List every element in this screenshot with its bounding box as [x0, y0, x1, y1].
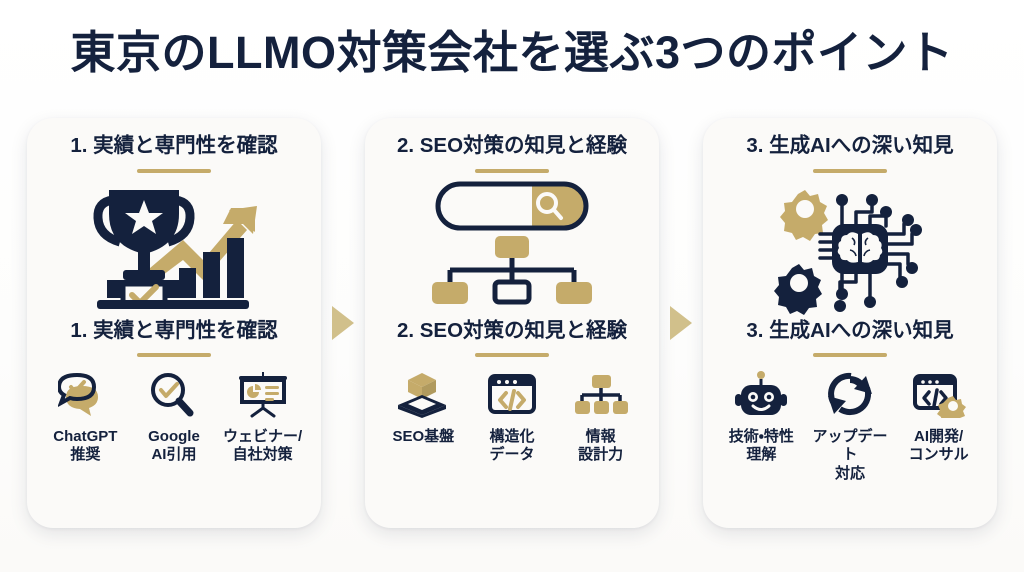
card-2-feature-2[interactable]: 構造化 データ: [468, 369, 556, 465]
card-3-heading-top: 3. 生成AIへの深い知見: [746, 134, 953, 159]
card-2-feature-2-label: 構造化 データ: [489, 428, 534, 465]
arrow-gap-1: [321, 118, 365, 528]
page-title: 東京のLLMO対策会社を選ぶ3つのポイント: [0, 28, 1024, 78]
card-3-feature-2-label: アップデート 対応: [806, 428, 894, 483]
card-1-feature-3-label: ウェビナー/ 自社対策: [223, 428, 302, 465]
page-title-wrapper: 東京のLLMO対策会社を選ぶ3つのポイント: [0, 28, 1024, 78]
arrow-between-card1-card2: [332, 306, 354, 340]
code-window-icon: [486, 369, 538, 421]
card-3-features: 技術・特性 理解 アップデート 対応: [717, 369, 983, 483]
chat-bubble-check-icon: [58, 369, 112, 421]
infographic-page: 東京のLLMO対策会社を選ぶ3つのポイント 1. 実績と専門性を確認: [0, 0, 1024, 572]
card-3-divider-top: [813, 169, 887, 173]
card-2-hero-icon-area: [379, 179, 645, 319]
card-3-feature-2[interactable]: アップデート 対応: [806, 369, 894, 483]
card-3[interactable]: 3. 生成AIへの深い知見: [703, 118, 997, 528]
cube-layers-icon: [396, 369, 450, 421]
card-3-feature-3[interactable]: AI開発/ コンサル: [895, 369, 983, 465]
card-1-divider-top: [137, 169, 211, 173]
code-window-gear-icon: [912, 369, 966, 421]
card-2-features: SEO基盤 構造化 データ: [379, 369, 645, 465]
card-2-heading-bottom: 2. SEO対策の知見と経験: [397, 319, 627, 344]
card-1-hero-icon-area: [41, 179, 307, 319]
card-2-heading-top: 2. SEO対策の知見と経験: [397, 134, 627, 159]
card-1-feature-3[interactable]: ウェビナー/ 自社対策: [219, 369, 307, 465]
card-1-feature-1-label: ChatGPT 推奨: [53, 428, 117, 465]
cards-row: 1. 実績と専門性を確認: [0, 118, 1024, 538]
card-2-feature-3-label: 情報 設計力: [578, 428, 623, 465]
arrow-gap-2: [659, 118, 703, 528]
card-2-divider-top: [475, 169, 549, 173]
card-1-features: ChatGPT 推奨 Google AI引用: [41, 369, 307, 465]
ai-brain-chip-gears-icon: [762, 176, 938, 321]
card-1-divider-bottom: [137, 353, 211, 357]
card-2-feature-3[interactable]: 情報 設計力: [557, 369, 645, 465]
card-3-feature-1-label: 技術・特性 理解: [729, 428, 794, 465]
card-3-feature-3-label: AI開発/ コンサル: [909, 428, 969, 465]
card-1-feature-2[interactable]: Google AI引用: [130, 369, 218, 465]
presentation-board-icon: [236, 369, 290, 421]
hierarchy-nodes-icon: [574, 369, 628, 421]
card-2-feature-1[interactable]: SEO基盤: [379, 369, 467, 446]
card-3-feature-1[interactable]: 技術・特性 理解: [717, 369, 805, 465]
search-bar-sitemap-icon: [422, 178, 602, 319]
card-1[interactable]: 1. 実績と専門性を確認: [27, 118, 321, 528]
card-1-feature-2-label: Google AI引用: [148, 428, 200, 465]
card-3-heading-bottom: 3. 生成AIへの深い知見: [746, 319, 953, 344]
card-1-heading-bottom: 1. 実績と専門性を確認: [70, 319, 277, 344]
magnifier-check-icon: [148, 369, 200, 421]
card-3-hero-icon-area: [717, 179, 983, 319]
card-3-divider-bottom: [813, 353, 887, 357]
trophy-growth-chart-icon: [79, 180, 269, 317]
card-2[interactable]: 2. SEO対策の知見と経験: [365, 118, 659, 528]
sync-refresh-icon: [824, 369, 876, 421]
card-1-heading-top: 1. 実績と専門性を確認: [70, 134, 277, 159]
robot-head-icon: [734, 369, 788, 421]
arrow-between-card2-card3: [670, 306, 692, 340]
card-1-feature-1[interactable]: ChatGPT 推奨: [41, 369, 129, 465]
card-2-divider-bottom: [475, 353, 549, 357]
card-2-feature-1-label: SEO基盤: [392, 428, 454, 446]
